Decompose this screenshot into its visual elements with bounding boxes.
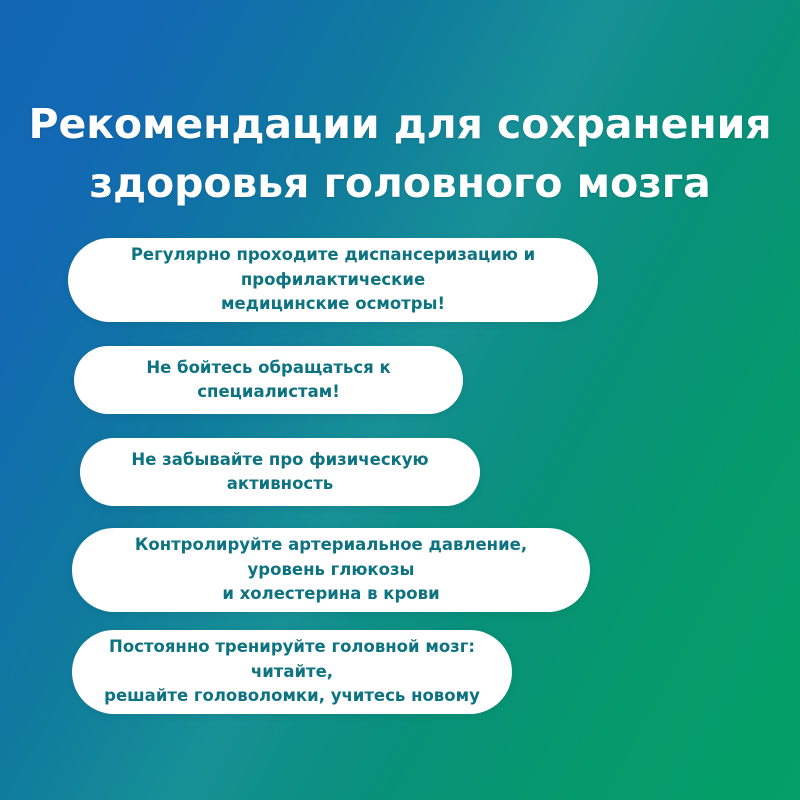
recommendation-card-5-label: Постоянно тренируйте головной мозг: чита…: [98, 635, 486, 708]
recommendation-card-3-label: Не забывайте про физическую активность: [106, 448, 454, 497]
recommendation-card-1-label: Регулярно проходите диспансеризацию и пр…: [94, 243, 572, 316]
recommendation-card-1: Регулярно проходите диспансеризацию и пр…: [68, 238, 598, 322]
recommendation-card-3: Не забывайте про физическую активность: [80, 438, 480, 506]
poster-stage: Рекомендации для сохранения здоровья гол…: [0, 0, 800, 800]
recommendation-card-5: Постоянно тренируйте головной мозг: чита…: [72, 630, 512, 714]
recommendation-card-2: Не бойтесь обращаться к специалистам!: [74, 346, 463, 414]
page-title: Рекомендации для сохранения здоровья гол…: [0, 95, 800, 212]
recommendation-card-4: Контролируйте артериальное давление, уро…: [72, 528, 590, 612]
recommendation-card-2-label: Не бойтесь обращаться к специалистам!: [100, 356, 437, 405]
recommendation-card-4-label: Контролируйте артериальное давление, уро…: [98, 533, 564, 606]
poster-canvas: Рекомендации для сохранения здоровья гол…: [0, 0, 800, 800]
